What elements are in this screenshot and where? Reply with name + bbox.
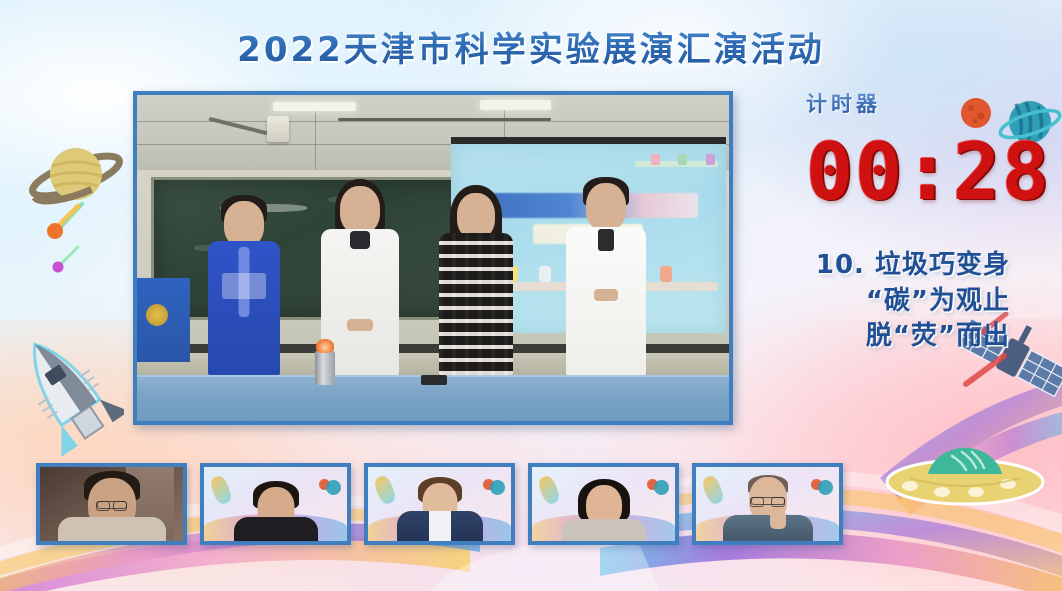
main-stage-video[interactable] <box>133 91 733 425</box>
judge-thumbnail-strip <box>36 463 843 545</box>
judge-thumbnail-5[interactable] <box>692 463 843 545</box>
broadcast-screen: 2022天津市科学实验展演汇演活动 <box>0 0 1062 591</box>
experiment-device <box>421 375 447 385</box>
timer-display: 00:28 <box>806 134 1006 212</box>
judge-thumbnail-4[interactable] <box>528 463 679 545</box>
projector-camera <box>267 116 289 142</box>
program-title-line-3: 脱“荧”而出 <box>690 319 1010 355</box>
student-1 <box>208 195 280 375</box>
page-title: 2022天津市科学实验展演汇演活动 <box>0 22 1062 71</box>
classroom-scene <box>137 95 729 421</box>
judge-thumbnail-1[interactable] <box>36 463 187 545</box>
student-3 <box>439 185 513 375</box>
program-title: 10. 垃圾巧变身 “碳”为观止 脱“荧”而出 <box>690 248 1010 355</box>
experiment-apparatus <box>315 339 335 385</box>
program-title-line-2: “碳”为观止 <box>690 284 1010 320</box>
chalkboard <box>151 177 488 320</box>
judge-thumbnail-2[interactable] <box>200 463 351 545</box>
program-title-line-1: 10. 垃圾巧变身 <box>690 248 1010 284</box>
student-4-presenter <box>566 177 646 375</box>
timer-label: 计时器 <box>806 88 881 118</box>
judge-thumbnail-3[interactable] <box>364 463 515 545</box>
cabinet-emblem <box>146 304 168 326</box>
